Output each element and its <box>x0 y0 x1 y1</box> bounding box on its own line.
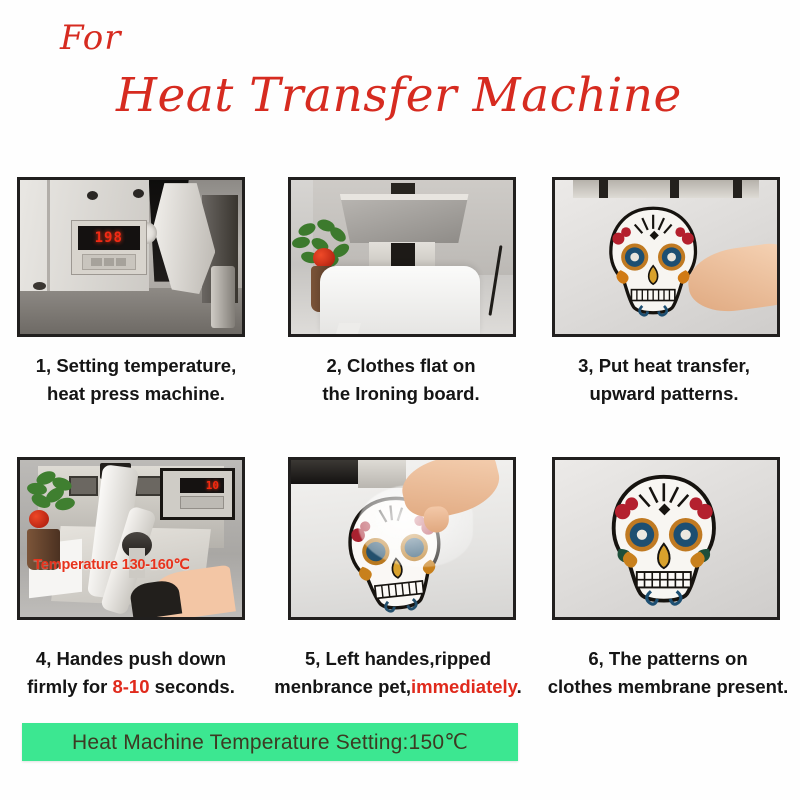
caption-line-2: heat press machine. <box>0 380 272 408</box>
led-value: 10 <box>206 479 224 492</box>
step-image-2 <box>288 177 516 337</box>
caption-highlight: immediately <box>411 676 517 697</box>
header-for-label: For <box>60 18 121 58</box>
caption-line-1: 4, Handes push down <box>36 648 226 669</box>
transfer-placement-photo <box>555 180 777 334</box>
temperature-overlay-text: Temperature 130-160℃ <box>33 557 237 573</box>
step-caption-3: 3, Put heat transfer, upward patterns. <box>530 352 798 408</box>
garment-on-board <box>320 266 480 337</box>
banner-text: Heat Machine Temperature Setting:150℃ <box>72 730 468 755</box>
step-caption-1: 1, Setting temperature, heat press machi… <box>0 352 272 408</box>
caption-line-1: 1, Setting temperature, <box>36 355 236 376</box>
caption-line-2: upward patterns. <box>530 380 798 408</box>
step-caption-2: 2, Clothes flat on the Ironing board. <box>272 352 530 408</box>
bolt-icon <box>33 282 46 290</box>
open-press-photo <box>291 180 513 334</box>
red-rose <box>29 510 49 528</box>
controller-buttons <box>82 254 136 270</box>
step-image-1: 198 <box>17 177 245 337</box>
led-display: 198 <box>78 226 140 250</box>
finished-transfer-photo <box>555 460 777 617</box>
sugar-skull-graphic <box>595 473 733 608</box>
step-image-6 <box>552 457 780 620</box>
controller-button <box>104 258 114 266</box>
caption-text: firmly for <box>27 676 112 697</box>
temperature-controller: 198 <box>71 220 146 275</box>
caption-text: seconds. <box>150 676 235 697</box>
caption-highlight: 8-10 <box>112 676 149 697</box>
page-title: Heat Transfer Machine <box>116 68 682 123</box>
red-rose <box>313 248 335 268</box>
led-inset-closeup: 10 <box>160 468 235 520</box>
caption-line-2: clothes membrane present. <box>536 673 800 701</box>
caption-line-2: menbrance pet,immediately. <box>258 673 538 701</box>
heat-press-control-photo: 198 <box>20 180 242 334</box>
temperature-setting-banner: Heat Machine Temperature Setting:150℃ <box>22 723 518 761</box>
machine-post-lower <box>211 266 235 328</box>
press-top-clip <box>391 183 415 195</box>
caption-text: . <box>517 676 522 697</box>
peel-membrane-photo <box>291 460 513 617</box>
caption-line-1: 6, The patterns on <box>588 648 747 669</box>
step-image-4: 10 Temperature 130-160℃ <box>17 457 245 620</box>
caption-line-1: 3, Put heat transfer, <box>578 355 750 376</box>
press-upper-edge <box>573 180 759 198</box>
step-image-5 <box>288 457 516 620</box>
step-caption-5: 5, Left handes,ripped menbrance pet,imme… <box>258 645 538 701</box>
machine-edge <box>47 180 50 291</box>
step-image-3 <box>552 177 780 337</box>
caption-line-2: firmly for 8-10 seconds. <box>2 673 260 701</box>
caption-line-1: 2, Clothes flat on <box>326 355 475 376</box>
caption-line-1: 5, Left handes,ripped <box>305 648 491 669</box>
garment-fold <box>335 323 361 337</box>
press-down-photo: 10 Temperature 130-160℃ <box>20 460 242 617</box>
led-display: 10 <box>180 478 224 493</box>
controller-button <box>91 258 101 266</box>
caption-line-2: the Ironing board. <box>272 380 530 408</box>
press-edge-light <box>358 460 407 488</box>
led-value: 198 <box>95 230 123 246</box>
caption-text: menbrance pet, <box>274 676 411 697</box>
controller-button <box>116 258 126 266</box>
page-header: For Heat Transfer Machine <box>0 0 800 150</box>
bolt-icon <box>87 191 98 200</box>
controller-buttons <box>180 496 224 509</box>
step-caption-6: 6, The patterns on clothes membrane pres… <box>536 645 800 701</box>
step-caption-4: 4, Handes push down firmly for 8-10 seco… <box>2 645 260 701</box>
